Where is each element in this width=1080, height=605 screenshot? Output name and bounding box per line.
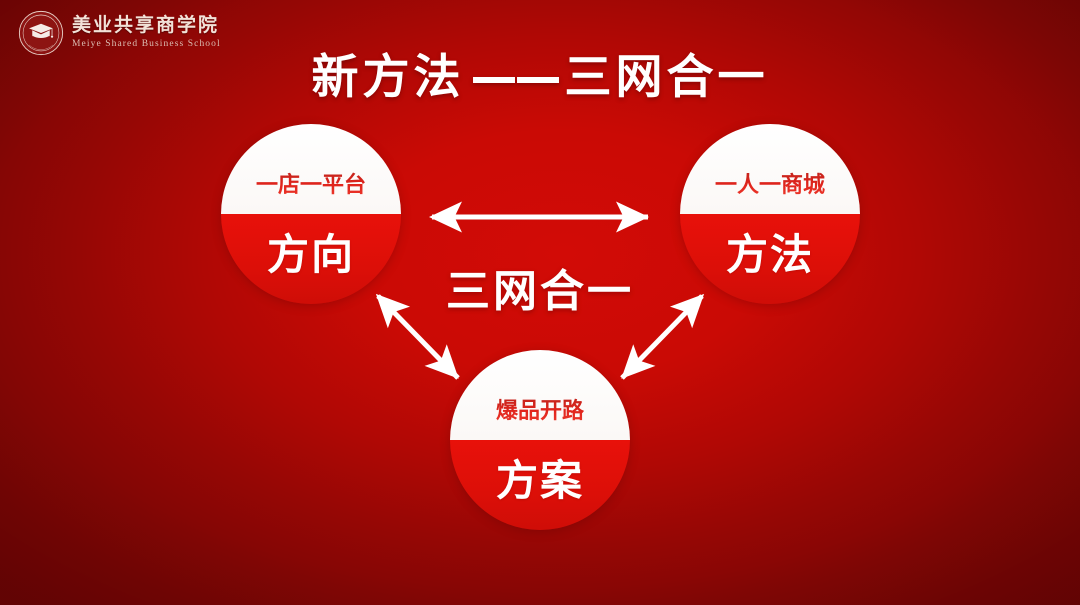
node-direction-top: 一店一平台 (221, 124, 401, 214)
node-method-top: 一人一商城 (680, 124, 860, 214)
node-plan-bottom: 方案 (450, 440, 630, 530)
slide-title-right: 三网合一 (565, 50, 769, 105)
node-plan[interactable]: 爆品开路 方案 (450, 350, 630, 530)
brand-name-cn: 美业共享商学院 (72, 16, 221, 35)
graduation-cap-emblem-icon (18, 10, 64, 56)
brand-logo: 美业共享商学院 Meiye Shared Business School (18, 10, 221, 56)
node-plan-main: 方案 (496, 447, 584, 508)
brand-logo-text: 美业共享商学院 Meiye Shared Business School (72, 16, 221, 50)
node-method-sub: 一人一商城 (715, 167, 825, 199)
slide-title-dash: —— (465, 50, 565, 105)
slide-canvas: 美业共享商学院 Meiye Shared Business School 新方法… (0, 0, 1080, 605)
node-direction-sub: 一店一平台 (256, 167, 366, 199)
node-plan-sub: 爆品开路 (496, 393, 584, 425)
slide-title-left: 新方法 (312, 50, 465, 105)
node-plan-top: 爆品开路 (450, 350, 630, 440)
center-label: 三网合一 (0, 255, 1080, 319)
brand-name-en: Meiye Shared Business School (72, 40, 221, 50)
